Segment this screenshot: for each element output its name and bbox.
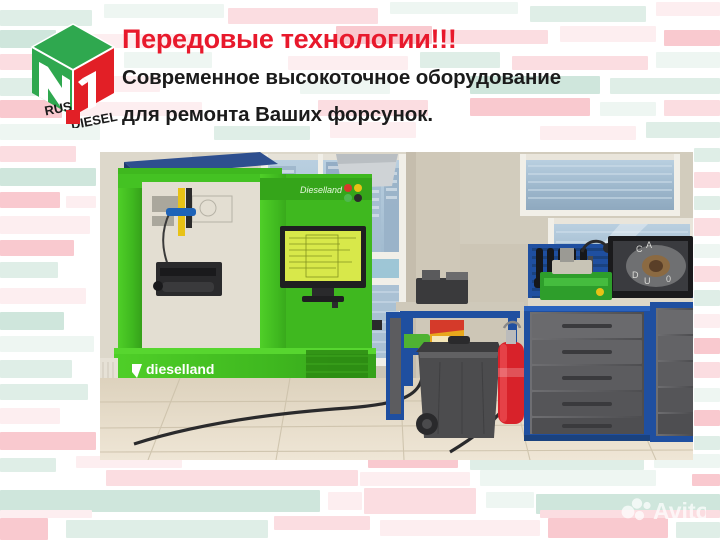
svg-text:D: D — [632, 270, 639, 280]
background-stripe — [66, 520, 268, 538]
page-title: Передовые технологии!!! — [122, 26, 457, 53]
rus-diesel-logo: RUS DIESEL — [26, 18, 122, 128]
background-stripe — [694, 338, 720, 354]
background-stripe — [694, 244, 720, 258]
background-stripe — [0, 458, 56, 472]
background-stripe — [360, 472, 470, 486]
background-stripe — [676, 522, 720, 538]
background-stripe — [0, 216, 90, 234]
background-stripe — [694, 196, 720, 210]
background-stripe — [0, 384, 88, 400]
background-stripe — [694, 218, 720, 236]
background-stripe — [0, 336, 94, 352]
background-stripe — [694, 362, 720, 378]
background-stripe — [380, 520, 540, 536]
background-stripe — [694, 388, 720, 402]
background-stripe — [274, 516, 370, 530]
advertisement-poster: RUS DIESEL Передовые технологии!!! Совре… — [0, 0, 720, 540]
avito-label: Avito — [653, 498, 706, 524]
background-stripe — [694, 172, 720, 188]
svg-text:A: A — [646, 240, 652, 250]
background-stripe — [0, 510, 92, 518]
background-stripe — [694, 410, 720, 426]
background-stripe — [486, 492, 534, 508]
background-stripe — [694, 290, 720, 306]
background-stripe — [0, 432, 96, 450]
background-stripe — [694, 148, 720, 162]
background-stripe — [0, 240, 74, 256]
poster-header: RUS DIESEL Передовые технологии!!! Совре… — [0, 0, 720, 150]
background-stripe — [0, 408, 60, 424]
background-stripe — [694, 266, 720, 282]
subtitle-line-1: Современное высокоточное оборудование — [122, 68, 561, 89]
svg-text:C: C — [636, 244, 643, 254]
background-stripe — [480, 470, 656, 486]
machine-brand-label: dieselland — [146, 361, 214, 377]
svg-text:U: U — [644, 276, 651, 286]
background-stripe — [0, 288, 86, 304]
background-stripe — [0, 518, 48, 540]
subtitle-line-2: для ремонта Ваших форсунок. — [122, 105, 433, 126]
background-stripe — [66, 196, 96, 208]
background-stripe — [0, 192, 60, 208]
background-stripe — [0, 360, 72, 378]
background-stripe — [0, 312, 64, 330]
background-stripe — [328, 492, 362, 510]
svg-text:0: 0 — [666, 274, 671, 284]
background-stripe — [0, 262, 58, 278]
background-stripe — [694, 436, 720, 450]
background-stripe — [364, 488, 476, 514]
background-stripe — [106, 470, 358, 486]
background-stripe — [0, 490, 320, 512]
background-stripe — [0, 168, 96, 186]
svg-text:Dieselland: Dieselland — [300, 185, 343, 195]
workshop-photo: Dieselland — [100, 152, 693, 460]
background-stripe — [692, 474, 720, 486]
background-stripe — [694, 314, 720, 328]
avito-watermark: Avito — [620, 496, 706, 524]
